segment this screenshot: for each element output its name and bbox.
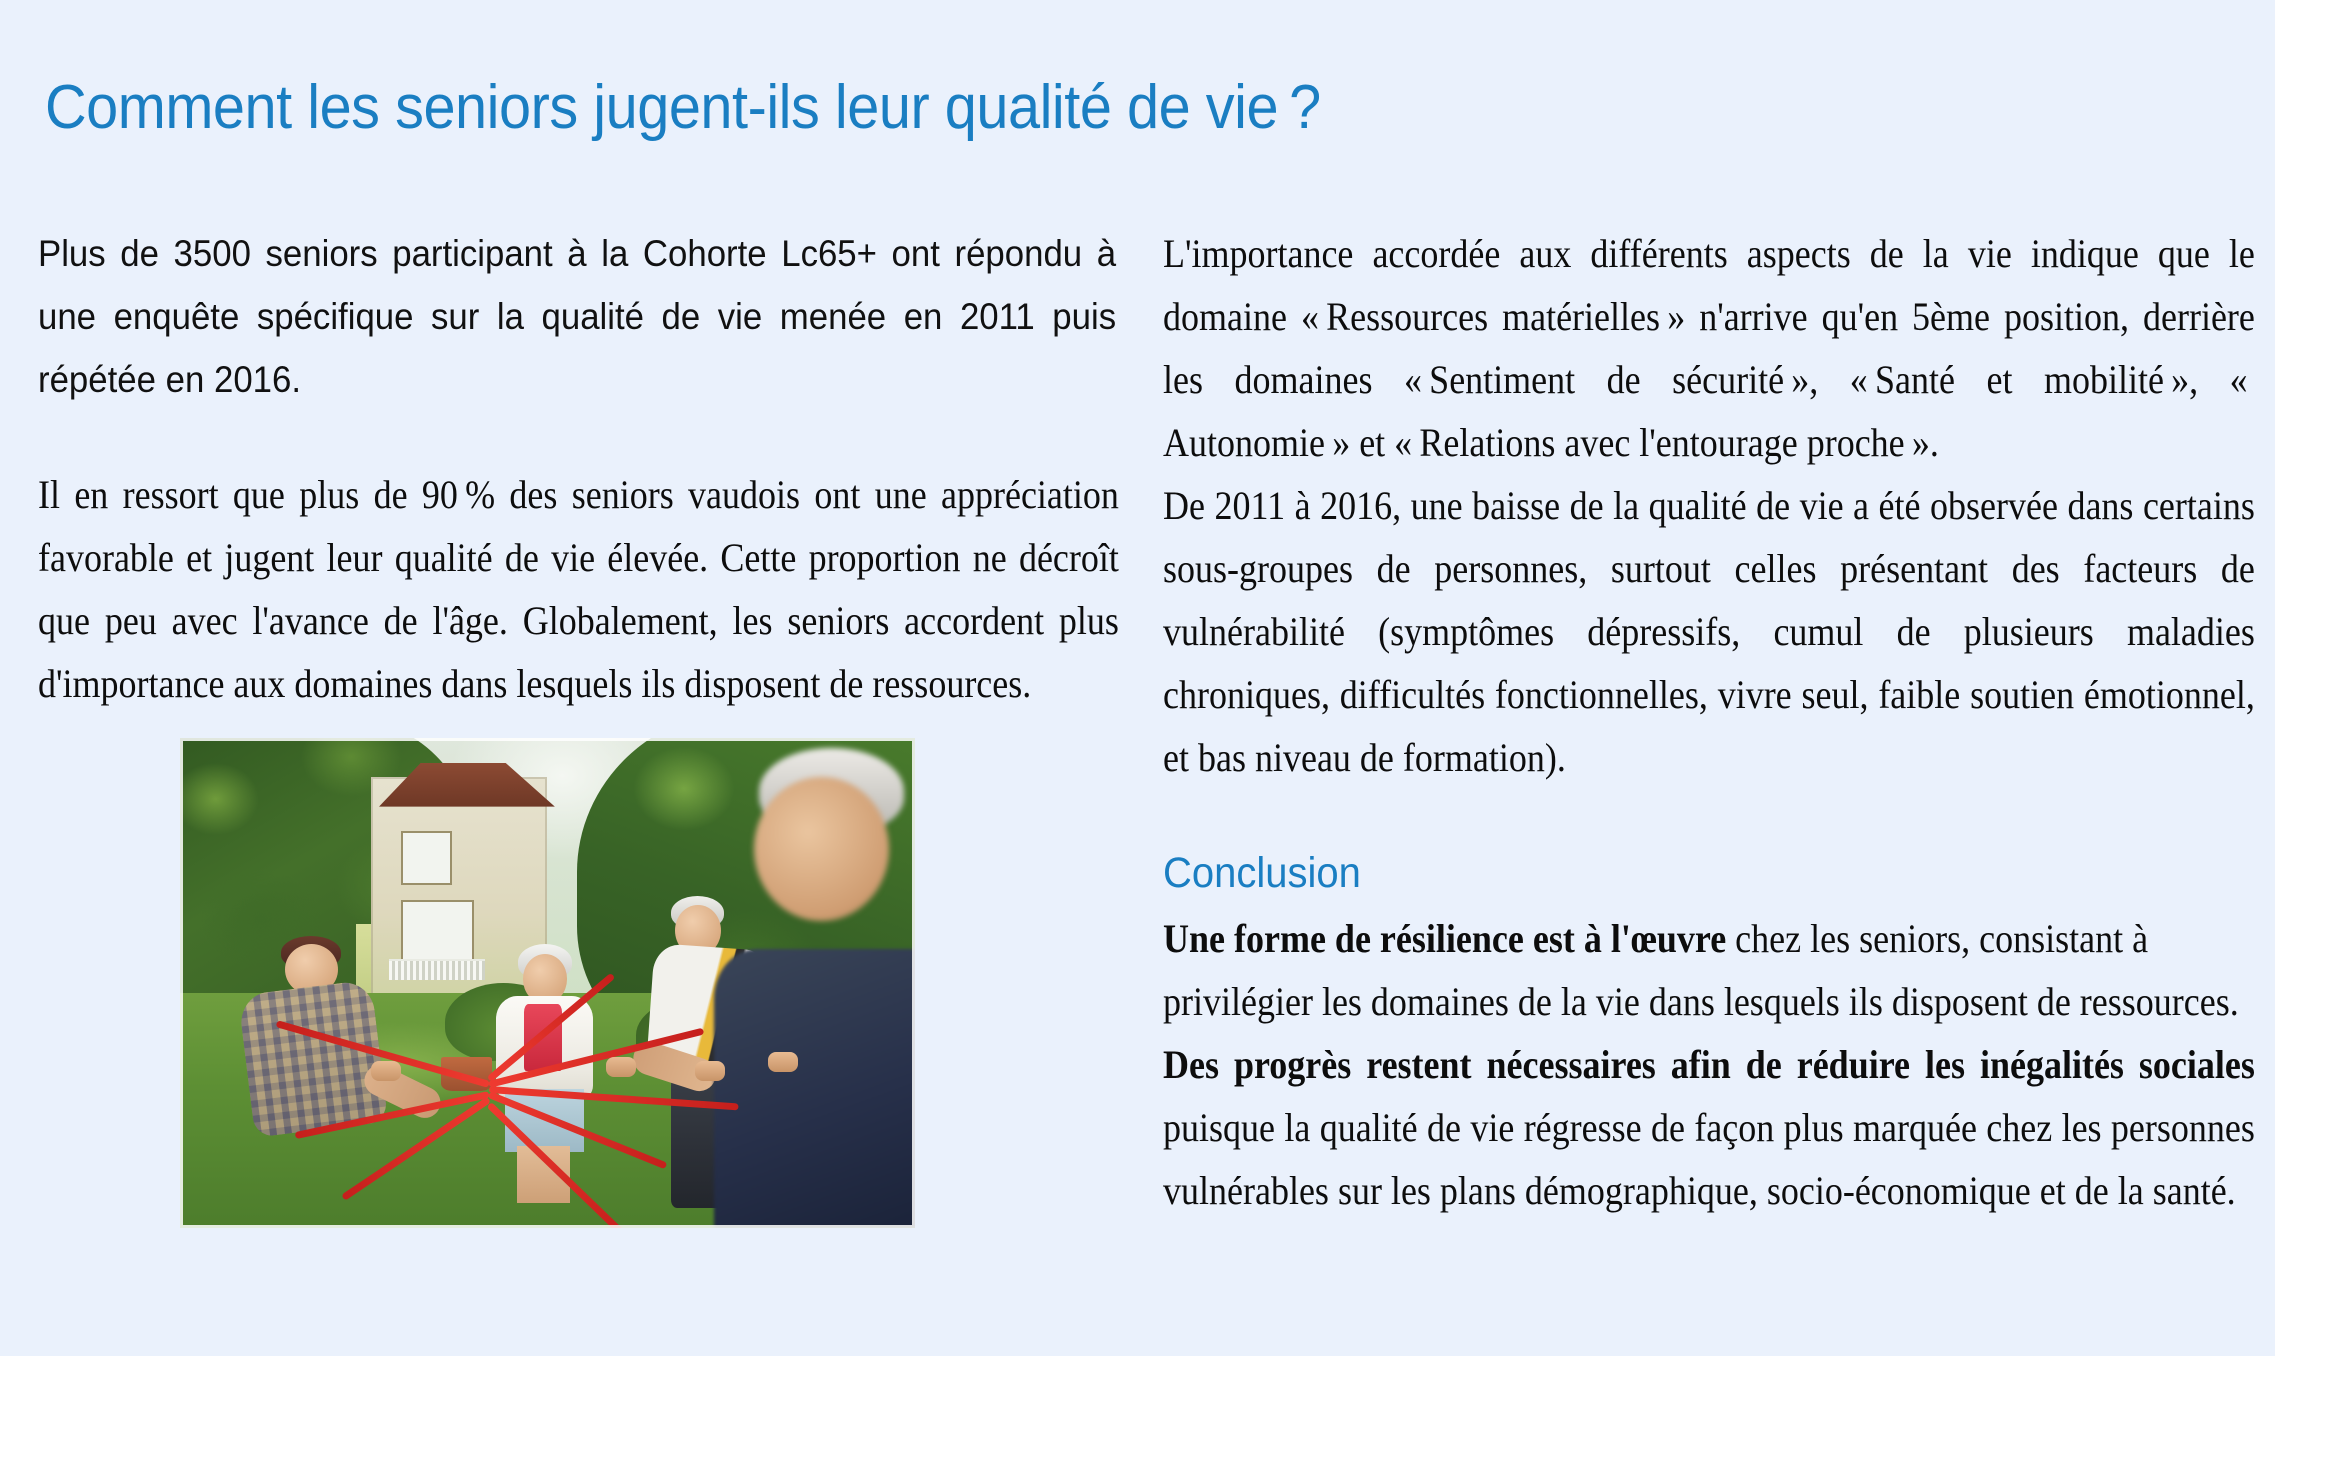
page-title: Comment les seniors jugent-ils leur qual… — [45, 72, 2045, 143]
house-window-upper — [401, 831, 452, 885]
importance-paragraph: L'importance accordée aux différents asp… — [1163, 222, 2255, 474]
findings-paragraph: Il en ressort que plus de 90 % des senio… — [38, 463, 1119, 715]
conclusion-point-2-rest: puisque la qualité de vie régresse de fa… — [1163, 1105, 2255, 1213]
conclusion-point-1-lead: Une forme de résilience est à l'œuvre — [1163, 916, 1726, 961]
left-column: Plus de 3500 seniors participant à la Co… — [38, 222, 1120, 715]
intro-paragraph: Plus de 3500 seniors participant à la Co… — [38, 222, 1116, 411]
conclusion-heading: Conclusion — [1163, 845, 2179, 901]
hand — [695, 1061, 725, 1081]
torso — [714, 949, 915, 1228]
conclusion-point-2-lead: Des progrès restent nécessaires afin de … — [1163, 1042, 2255, 1087]
conclusion-gap — [1163, 789, 2256, 845]
seniors-garden-photo — [180, 738, 915, 1228]
hand — [371, 1061, 401, 1081]
person-man-foreground — [709, 748, 915, 1228]
hand — [768, 1052, 798, 1072]
right-column: L'importance accordée aux différents asp… — [1163, 222, 2256, 1222]
torso — [238, 979, 388, 1137]
paragraph-gap — [38, 411, 1120, 463]
photo-scene — [180, 738, 915, 1228]
hand — [606, 1057, 636, 1077]
evolution-paragraph: De 2011 à 2016, une baisse de la qualité… — [1163, 474, 2255, 789]
conclusion-point-1: Une forme de résilience est à l'œuvre ch… — [1163, 907, 2255, 1033]
head — [754, 777, 889, 921]
page-panel: Comment les seniors jugent-ils leur qual… — [0, 0, 2275, 1356]
conclusion-point-2: Des progrès restent nécessaires afin de … — [1163, 1033, 2255, 1222]
